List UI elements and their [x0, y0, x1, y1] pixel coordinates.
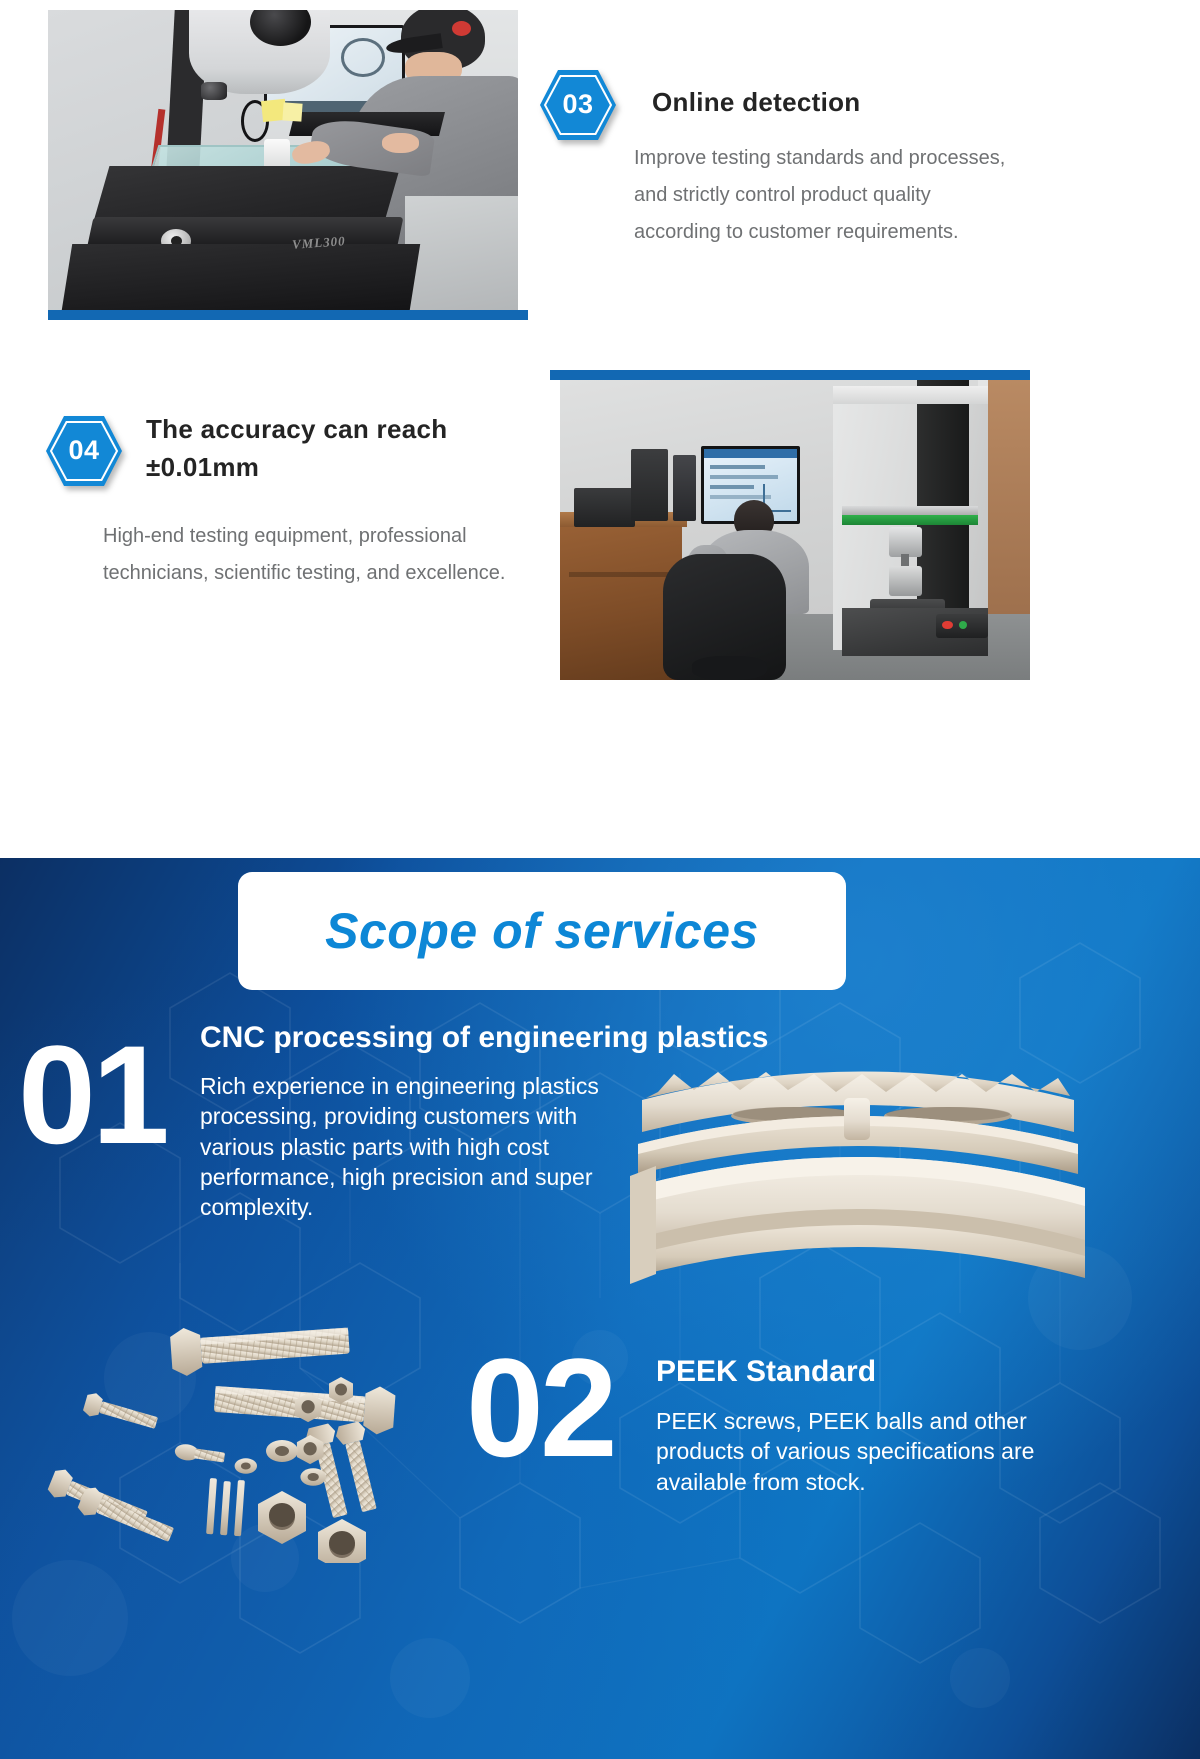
- photo-image-1: VML300: [48, 10, 518, 310]
- scope-of-services-section: Scope of services 01 CNC processing of e…: [0, 858, 1200, 1759]
- badge-04-number: 04: [44, 411, 124, 491]
- scope-title: Scope of services: [325, 902, 759, 960]
- badge-04: 04: [44, 411, 124, 491]
- photo-accuracy-testing: [560, 380, 1030, 680]
- scope-item-01-body: Rich experience in engineering plastics …: [200, 1071, 630, 1223]
- feature-03-title: Online detection: [652, 84, 1052, 122]
- badge-03: 03: [538, 65, 618, 145]
- photo-image-2: [560, 380, 1030, 680]
- badge-03-number: 03: [538, 65, 618, 145]
- feature-04-body: High-end testing equipment, professional…: [103, 518, 533, 592]
- feature-04-title: The accuracy can reach ±0.01mm: [146, 411, 506, 486]
- marketing-page: VML300 03 Online detection Improve testi…: [0, 0, 1200, 1759]
- scope-item-02-body: PEEK screws, PEEK balls and other produc…: [656, 1406, 1076, 1497]
- scope-item-02-title: PEEK Standard: [656, 1352, 1176, 1391]
- scope-title-card: Scope of services: [238, 872, 846, 990]
- scope-item-02-number: 02: [466, 1338, 614, 1478]
- product-photo-peek-screws-nuts: [30, 1273, 460, 1563]
- features-section: VML300 03 Online detection Improve testi…: [0, 0, 1200, 858]
- feature-03-body: Improve testing standards and processes,…: [634, 140, 1016, 251]
- product-photo-cnc-plastic-parts: [630, 1048, 1085, 1303]
- photo-accent-bottom: [58, 310, 528, 320]
- photo-accent-top: [550, 370, 1020, 380]
- photo-online-detection: VML300: [48, 10, 518, 310]
- scope-item-01-number: 01: [18, 1025, 166, 1165]
